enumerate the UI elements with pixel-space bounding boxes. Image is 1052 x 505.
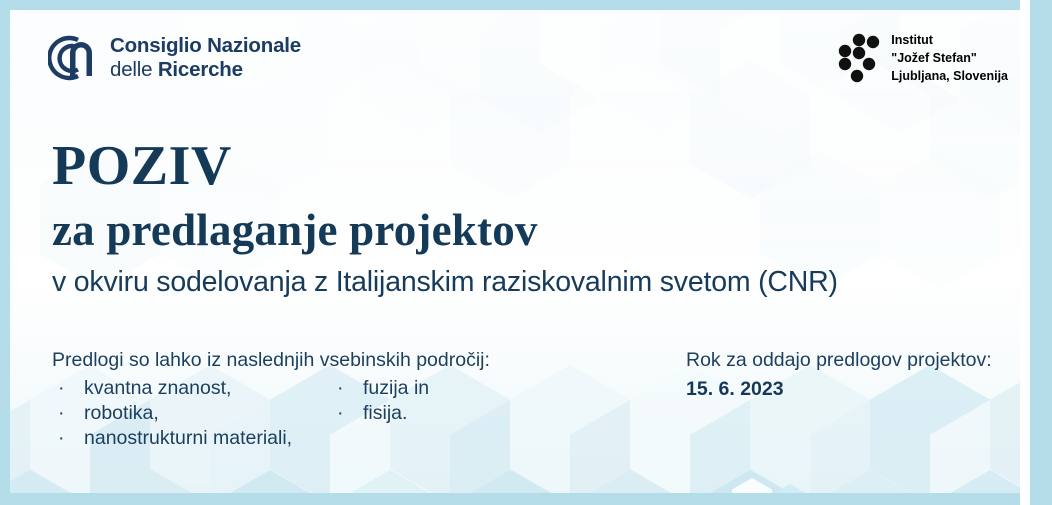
bullet-dot-icon: · — [58, 401, 84, 426]
cnr-logo-line2-bold: Ricerche — [158, 58, 243, 81]
list-item-label: robotika, — [84, 401, 159, 426]
poster-canvas: Consiglio Nazionale delle Ricerche Insti… — [0, 0, 1052, 505]
list-item: · kvantna znanost, — [58, 376, 292, 401]
bullet-dot-icon: · — [337, 401, 363, 426]
deadline-date: 15. 6. 2023 — [686, 376, 992, 402]
frame-border-bottom — [0, 493, 1052, 505]
list-item-label: fisija. — [363, 401, 407, 426]
jozef-stefan-logo-line1: Institut — [891, 32, 1008, 50]
topics-intro: Predlogi so lahko iz naslednjih vsebinsk… — [52, 348, 652, 372]
list-item-label: kvantna znanost, — [84, 376, 231, 401]
jozef-stefan-logo-line2: "Jožef Stefan" — [891, 50, 1008, 68]
list-item-label: fuzija in — [363, 376, 429, 401]
list-item: · nanostrukturni materiali, — [58, 426, 292, 451]
cnr-logo-mark-icon — [48, 32, 98, 84]
page-title: POZIV — [52, 138, 838, 194]
frame-border-right — [1030, 0, 1052, 505]
page-subtitle: za predlaganje projektov — [52, 208, 838, 253]
list-item-label: nanostrukturni materiali, — [84, 426, 292, 451]
list-item: · fisija. — [337, 401, 429, 426]
jozef-stefan-logo-line3: Ljubljana, Slovenija — [891, 68, 1008, 86]
topics-bullet-columns: · kvantna znanost, · robotika, · nanostr… — [52, 376, 652, 452]
cnr-logo-line2: delle Ricerche — [110, 58, 301, 82]
frame-border-left — [0, 0, 10, 505]
page-description: v okviru sodelovanja z Italijanskim razi… — [52, 267, 838, 298]
jozef-stefan-dots-logo-mark-icon — [835, 33, 881, 85]
cnr-logo: Consiglio Nazionale delle Ricerche — [48, 32, 301, 84]
list-item: · fuzija in — [337, 376, 429, 401]
frame-border-right-gap — [1020, 0, 1030, 505]
bullet-dot-icon: · — [337, 376, 363, 401]
bullet-dot-icon: · — [58, 426, 84, 451]
cnr-logo-line1: Consiglio Nazionale — [110, 34, 301, 58]
cnr-logo-wordmark: Consiglio Nazionale delle Ricerche — [110, 34, 301, 82]
cnr-logo-line2-light: delle — [110, 58, 158, 81]
headline-block: POZIV za predlaganje projektov v okviru … — [52, 138, 838, 298]
topics-section: Predlogi so lahko iz naslednjih vsebinsk… — [52, 348, 652, 452]
bullet-dot-icon: · — [58, 376, 84, 401]
topics-column-1: · kvantna znanost, · robotika, · nanostr… — [58, 376, 292, 451]
jozef-stefan-logo-wordmark: Institut "Jožef Stefan" Ljubljana, Slove… — [891, 32, 1008, 85]
list-item: · robotika, — [58, 401, 292, 426]
frame-border-top — [0, 0, 1052, 10]
topics-column-2: · fuzija in · fisija. — [337, 376, 429, 426]
deadline-label: Rok za oddajo predlogov projektov: — [686, 348, 992, 373]
deadline-section: Rok za oddajo predlogov projektov: 15. 6… — [686, 348, 992, 403]
jozef-stefan-logo: Institut "Jožef Stefan" Ljubljana, Slove… — [835, 32, 1008, 85]
